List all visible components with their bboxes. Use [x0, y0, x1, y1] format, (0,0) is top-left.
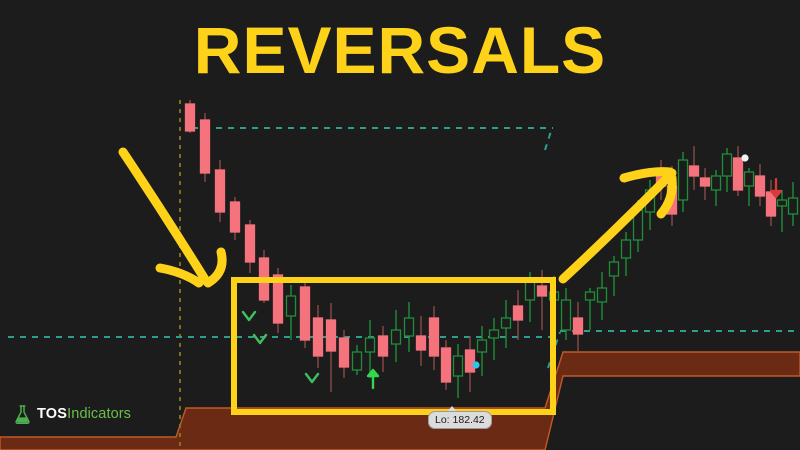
logo-text: TOSIndicators [37, 407, 131, 422]
logo-secondary-text: Indicators [67, 406, 131, 422]
screenshot-root: REVERSALS TOSIndicators Lo: 182.42 [0, 0, 800, 450]
flask-icon [14, 405, 31, 424]
page-title: REVERSALS [0, 14, 800, 86]
price-label[interactable]: Lo: 182.42 [428, 411, 492, 429]
logo-primary-text: TOS [37, 406, 67, 422]
brand-logo: TOSIndicators [14, 405, 131, 424]
